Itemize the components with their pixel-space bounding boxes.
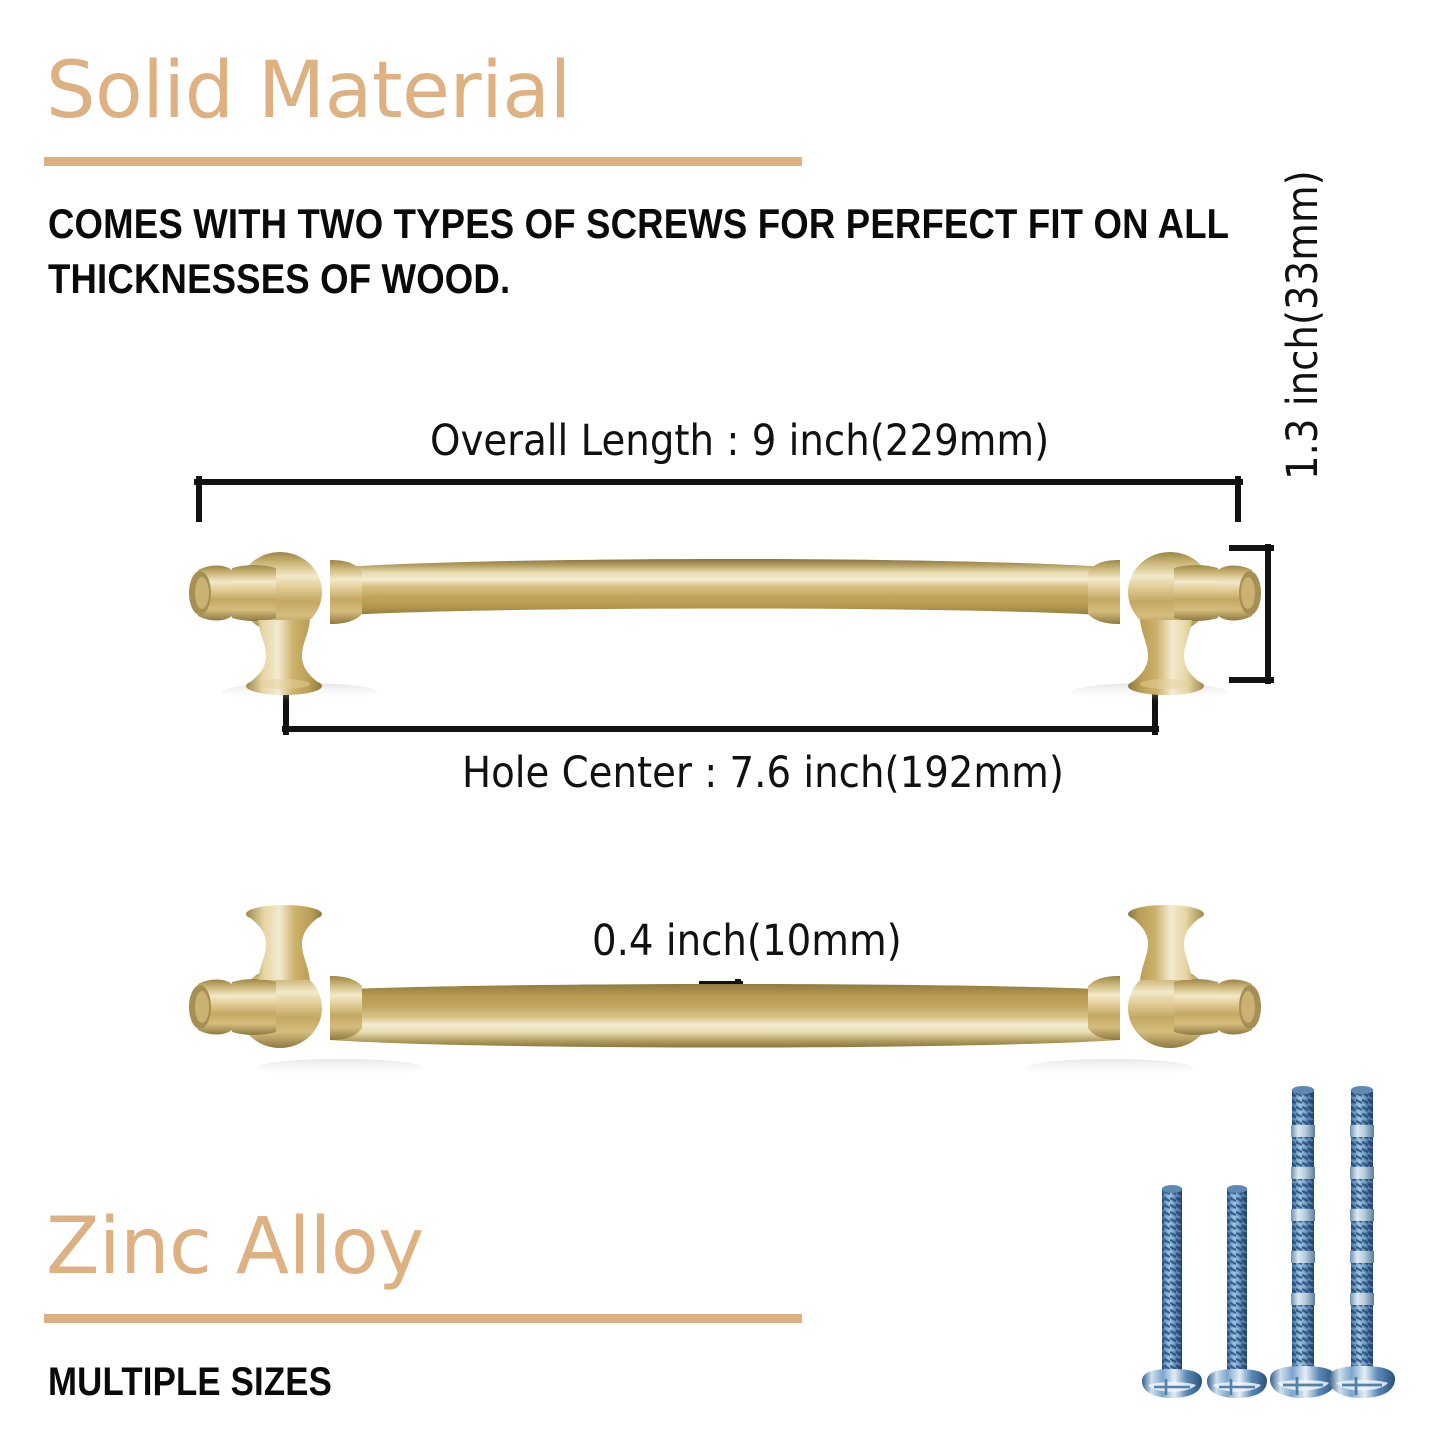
handle2-end-right <box>1088 905 1261 1048</box>
screw-short-2 <box>1207 1185 1267 1398</box>
handle2-bar <box>330 984 1120 1048</box>
cabinet-pull-handle-front-view <box>180 520 1270 710</box>
title-divider-bottom <box>44 1314 802 1323</box>
handle-post-right <box>1128 620 1204 686</box>
handle2-post-left <box>246 914 322 980</box>
cabinet-pull-handle-flipped-view <box>180 890 1270 1080</box>
overall-length-bracket <box>197 479 1240 519</box>
handle-bar <box>330 559 1120 616</box>
handle2-shadow-right <box>1026 1059 1194 1077</box>
handle2-end-left <box>189 905 362 1048</box>
handle-post-left <box>246 620 322 686</box>
handle-end-left <box>189 552 362 695</box>
screw-long-breakaway-1 <box>1270 1086 1336 1398</box>
page-title-zinc-alloy: Zinc Alloy <box>46 1208 424 1286</box>
subtitle-multiple-sizes: MULTIPLE SIZES <box>48 1356 332 1409</box>
screw-long-breakaway-2 <box>1329 1086 1395 1398</box>
screw-short-1 <box>1142 1185 1202 1398</box>
handle-end-right <box>1088 552 1261 695</box>
handle2-post-right <box>1128 914 1204 980</box>
product-infographic: Solid Material COMES WITH TWO TYPES OF S… <box>0 0 1445 1445</box>
screws-group <box>1140 1085 1410 1415</box>
handle2-shadow-left <box>256 1059 424 1077</box>
